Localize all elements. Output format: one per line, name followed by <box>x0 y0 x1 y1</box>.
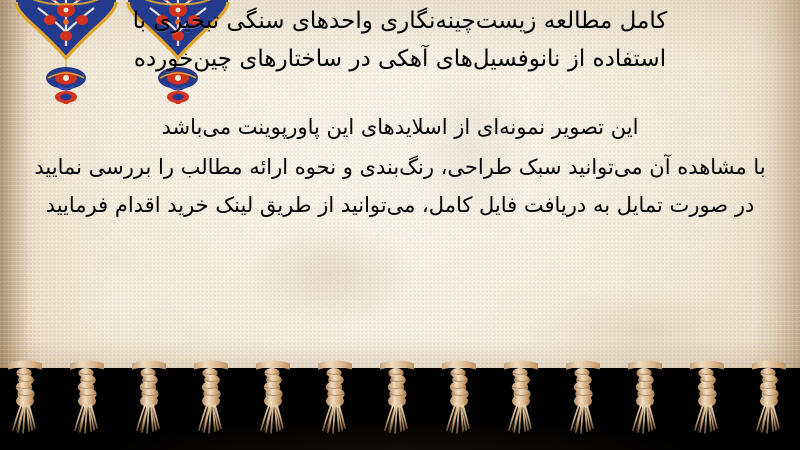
tassel-shape <box>566 360 600 438</box>
body-line-1: این تصویر نمونه‌ای از اسلایدهای این پاور… <box>0 108 800 148</box>
tassel-shape <box>318 360 352 438</box>
tassel-shape <box>442 360 476 438</box>
carpet-tassel <box>318 360 352 438</box>
carpet-tassel <box>8 360 42 438</box>
text-layer: کامل مطالعه زیست‌چینه‌نگاری واحدهای سنگی… <box>0 0 800 378</box>
tassel-shape <box>70 360 104 438</box>
slide-body: این تصویر نمونه‌ای از اسلایدهای این پاور… <box>0 108 800 224</box>
tassel-shape <box>8 360 42 438</box>
carpet-tassel <box>132 360 166 438</box>
body-line-2: با مشاهده آن می‌توانید سبک طراحی، رنگ‌بن… <box>0 148 800 186</box>
slide-title: کامل مطالعه زیست‌چینه‌نگاری واحدهای سنگی… <box>18 2 782 78</box>
carpet-tassel <box>70 360 104 438</box>
carpet-tassel <box>628 360 662 438</box>
body-line-3: در صورت تمایل به دریافت فایل کامل، می‌تو… <box>0 186 800 224</box>
carpet-tassel <box>504 360 538 438</box>
slide-canvas: کامل مطالعه زیست‌چینه‌نگاری واحدهای سنگی… <box>0 0 800 450</box>
carpet-tassel <box>194 360 228 438</box>
tassel-shape <box>752 360 786 438</box>
tassel-shape <box>256 360 290 438</box>
carpet-tassel <box>690 360 724 438</box>
title-line-2: استفاده از نانوفسیل‌های آهکی در ساختارها… <box>18 40 782 78</box>
tassel-shape <box>380 360 414 438</box>
carpet-tassel <box>256 360 290 438</box>
carpet-tassel <box>752 360 786 438</box>
tassel-shape <box>690 360 724 438</box>
carpet-tassel <box>442 360 476 438</box>
tassel-shape <box>504 360 538 438</box>
tassel-shape <box>628 360 662 438</box>
title-line-1: کامل مطالعه زیست‌چینه‌نگاری واحدهای سنگی… <box>18 2 782 40</box>
tassel-shape <box>132 360 166 438</box>
carpet-tassel <box>380 360 414 438</box>
tassel-shape <box>194 360 228 438</box>
carpet-tassel <box>566 360 600 438</box>
